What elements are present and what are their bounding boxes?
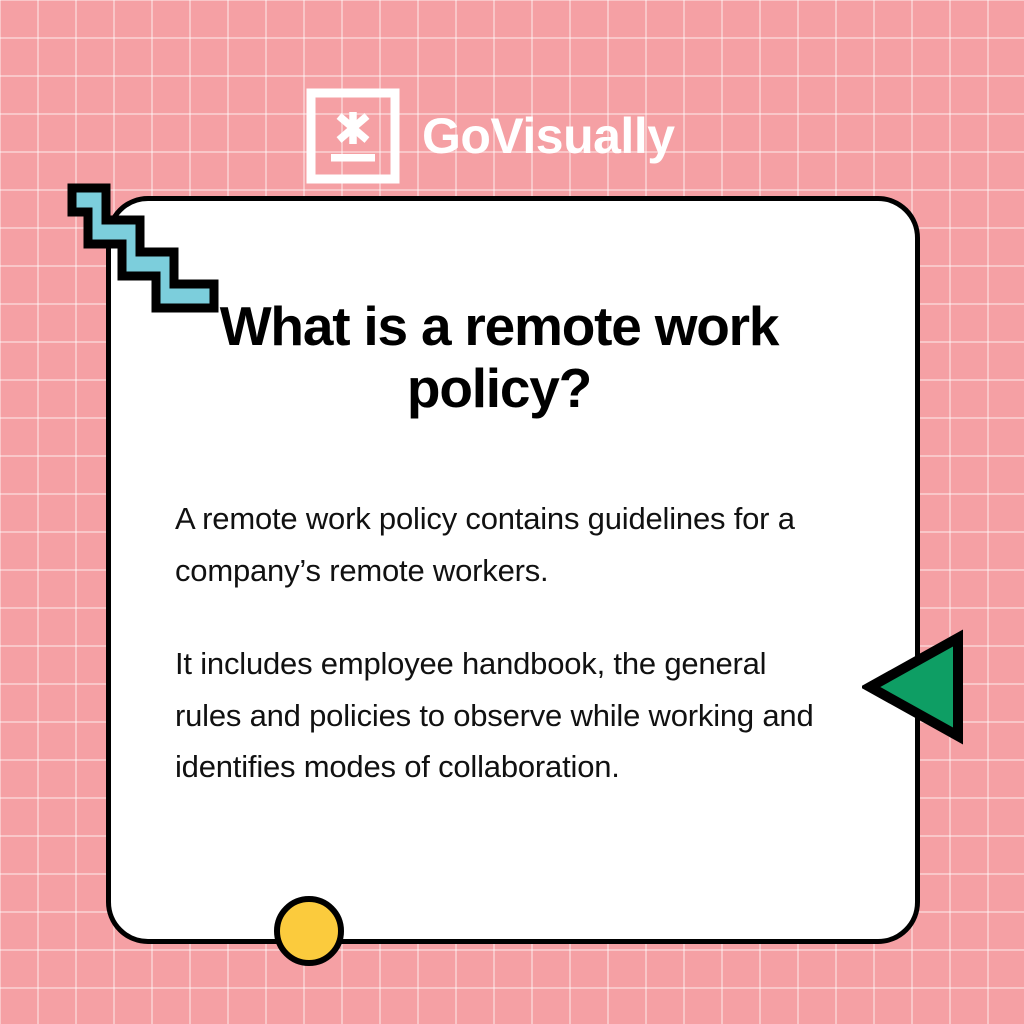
card-paragraph-2: It includes employee handbook, the gener… — [175, 638, 823, 792]
asterisk-document-icon — [306, 88, 400, 184]
page-title: What is a remote work policy? — [175, 296, 823, 419]
slide-canvas: GoVisually What is a remote work policy?… — [0, 0, 1024, 1024]
brand-logo[interactable]: GoVisually — [306, 88, 675, 184]
brand-name: GoVisually — [422, 111, 675, 161]
card-content: What is a remote work policy? A remote w… — [175, 296, 823, 792]
card-paragraph-1: A remote work policy contains guidelines… — [175, 493, 823, 596]
